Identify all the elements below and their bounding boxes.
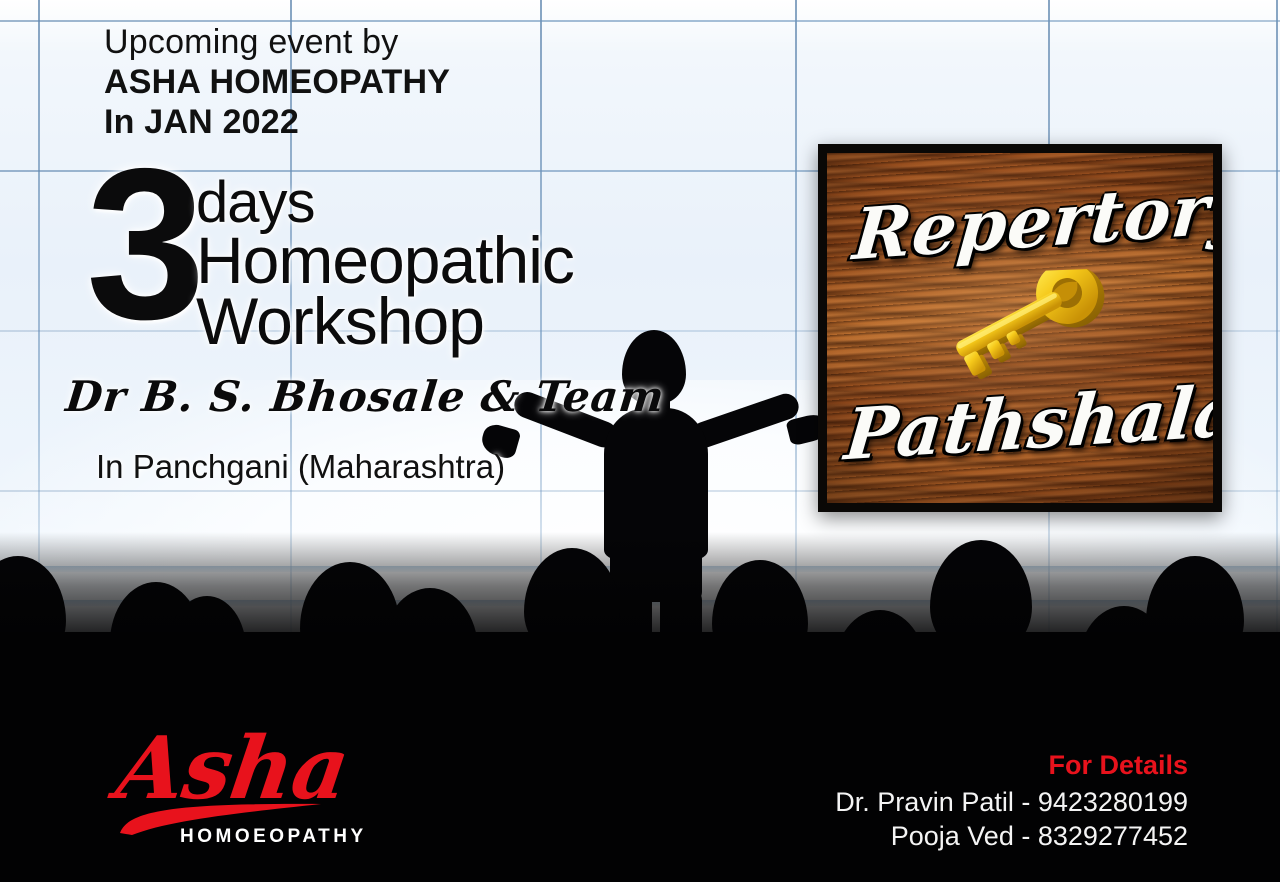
workshop-line-days: days bbox=[196, 176, 574, 230]
workshop-line-workshop: Workshop bbox=[196, 291, 574, 352]
gold-key-icon bbox=[937, 268, 1131, 395]
event-poster: Upcoming event by ASHA HOMEOPATHY In JAN… bbox=[0, 0, 1280, 882]
contact-row: Dr. Pravin Patil - 9423280199 bbox=[835, 785, 1188, 820]
asha-homoeopathy-logo: Asha HOMOEOPATHY bbox=[118, 718, 378, 850]
venue-text: In Panchgani (Maharashtra) bbox=[96, 448, 505, 486]
workshop-line-homeopathic: Homeopathic bbox=[196, 230, 574, 291]
days-count: 3 bbox=[86, 152, 200, 337]
header-line-2: ASHA HOMEOPATHY bbox=[104, 62, 450, 102]
header-line-1: Upcoming event by bbox=[104, 22, 450, 62]
contact-heading: For Details bbox=[835, 748, 1188, 783]
contact-row: Pooja Ved - 8329277452 bbox=[835, 819, 1188, 854]
contact-details: For Details Dr. Pravin Patil - 942328019… bbox=[835, 748, 1188, 854]
repertory-pathshala-panel: Repertory Pathshala bbox=[818, 144, 1222, 512]
wood-texture-background: Repertory Pathshala bbox=[827, 153, 1213, 503]
presenter-byline: Dr B. S. Bhosale & Team bbox=[63, 372, 667, 421]
logo-tagline: HOMOEOPATHY bbox=[180, 826, 367, 848]
workshop-title: days Homeopathic Workshop bbox=[196, 176, 574, 353]
